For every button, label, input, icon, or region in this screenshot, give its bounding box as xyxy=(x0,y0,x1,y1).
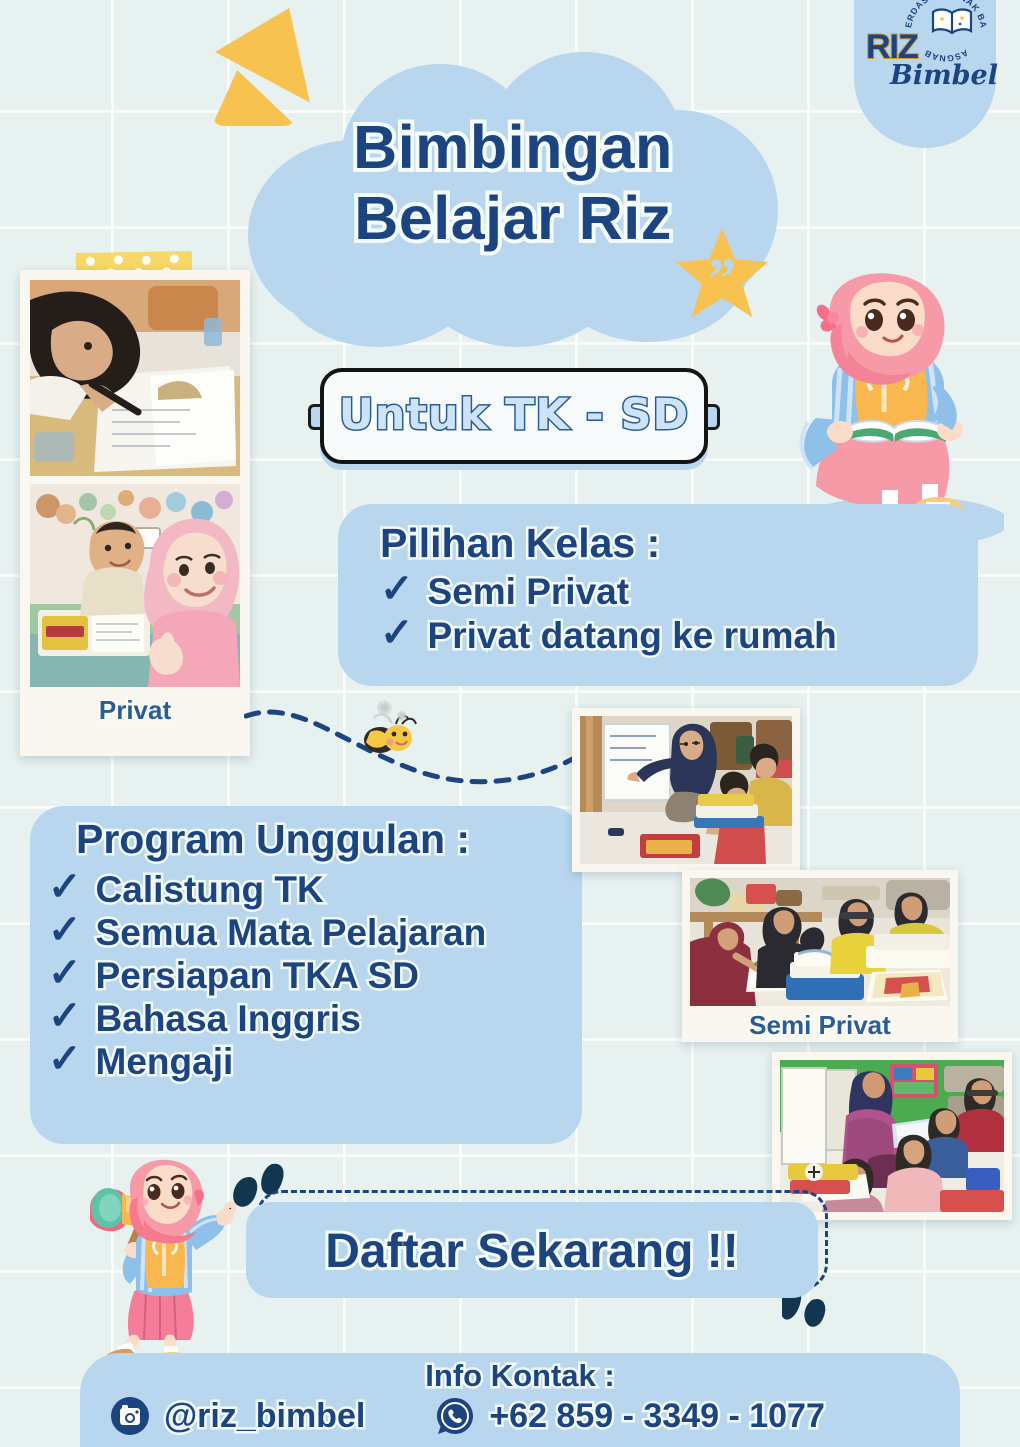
contact-instagram[interactable]: @riz_bimbel xyxy=(110,1396,365,1436)
photo-classroom-green-wall xyxy=(780,1060,1004,1212)
featured-programs-heading: Program Unggulan : xyxy=(76,816,486,863)
check-icon: ✓ xyxy=(48,867,82,907)
class-option-item: ✓ Privat datang ke rumah xyxy=(380,615,837,657)
contact-heading: Info Kontak : xyxy=(80,1358,960,1394)
photo-card-privat-label: Privat xyxy=(30,695,240,726)
brand-logo[interactable]: MENCERDASKAN ANAK BANGSA ASGNAB RIZ Bimb… xyxy=(854,0,996,148)
class-option-item: ✓ Semi Privat xyxy=(380,571,837,613)
photo-teacher-whiteboard xyxy=(580,716,792,864)
program-label: Semua Mata Pelajaran xyxy=(96,912,487,954)
program-label: Calistung TK xyxy=(96,869,324,911)
logo-script-text: Bimbel xyxy=(890,60,998,91)
class-option-label: Semi Privat xyxy=(428,571,630,613)
contact-whatsapp[interactable]: +62 859 - 3349 - 1077 xyxy=(435,1396,825,1436)
girl-reading-book-illustration xyxy=(772,272,1004,540)
photo-privat-tutor xyxy=(30,484,240,687)
open-book-icon xyxy=(930,6,974,38)
program-item: ✓ Mengaji xyxy=(48,1041,486,1083)
photo-student-writing xyxy=(30,280,240,476)
check-icon: ✓ xyxy=(48,1039,82,1079)
program-item: ✓ Calistung TK xyxy=(48,869,486,911)
program-label: Bahasa Inggris xyxy=(96,998,361,1040)
dashed-curve-path xyxy=(244,680,604,800)
check-icon: ✓ xyxy=(48,910,82,950)
photo-card-semi-privat: Semi Privat xyxy=(682,870,958,1042)
program-item: ✓ Bahasa Inggris xyxy=(48,998,486,1040)
program-item: ✓ Persiapan TKA SD xyxy=(48,955,486,997)
floral-decoration: ✺ xyxy=(376,696,393,721)
check-icon: ✓ xyxy=(48,996,82,1036)
class-options-heading: Pilihan Kelas : xyxy=(380,520,837,567)
class-option-label: Privat datang ke rumah xyxy=(428,615,837,657)
age-range-banner: Untuk TK - SD xyxy=(308,368,720,464)
whatsapp-icon[interactable] xyxy=(435,1396,475,1436)
check-icon: ✓ xyxy=(48,953,82,993)
page-title: Bimbingan Belajar Riz xyxy=(258,112,768,255)
title-line-2: Belajar Riz xyxy=(258,183,768,254)
instagram-handle[interactable]: @riz_bimbel xyxy=(164,1397,365,1436)
photo-card-semi-privat-label: Semi Privat xyxy=(690,1010,950,1041)
poster-canvas: ” Bimbingan Belajar Riz MENCERDASKAN ANA… xyxy=(0,0,1020,1447)
cta-text[interactable]: Daftar Sekarang !! xyxy=(246,1224,818,1279)
program-label: Mengaji xyxy=(96,1041,234,1083)
quote-mark: ” xyxy=(676,264,768,295)
title-line-1: Bimbingan xyxy=(353,113,673,181)
photo-card-whiteboard-class xyxy=(572,708,800,872)
photo-card-privat: Privat xyxy=(20,270,250,756)
class-options-box: Pilihan Kelas : ✓ Semi Privat ✓ Privat d… xyxy=(338,504,978,686)
check-icon: ✓ xyxy=(380,613,414,653)
featured-programs-box: Program Unggulan : ✓ Calistung TK ✓ Semu… xyxy=(30,806,582,1144)
floral-decoration: ✺ xyxy=(396,708,408,725)
instagram-icon[interactable] xyxy=(110,1396,150,1436)
girl-with-megaphone-illustration xyxy=(86,1158,236,1368)
photo-group-study xyxy=(690,878,950,1006)
program-item: ✓ Semua Mata Pelajaran xyxy=(48,912,486,954)
whatsapp-number[interactable]: +62 859 - 3349 - 1077 xyxy=(489,1397,825,1436)
banner-text: Untuk TK - SD xyxy=(322,390,706,440)
check-icon: ✓ xyxy=(380,569,414,609)
program-label: Persiapan TKA SD xyxy=(96,955,420,997)
contact-row: @riz_bimbel +62 859 - 3349 - 1077 xyxy=(110,1396,940,1436)
